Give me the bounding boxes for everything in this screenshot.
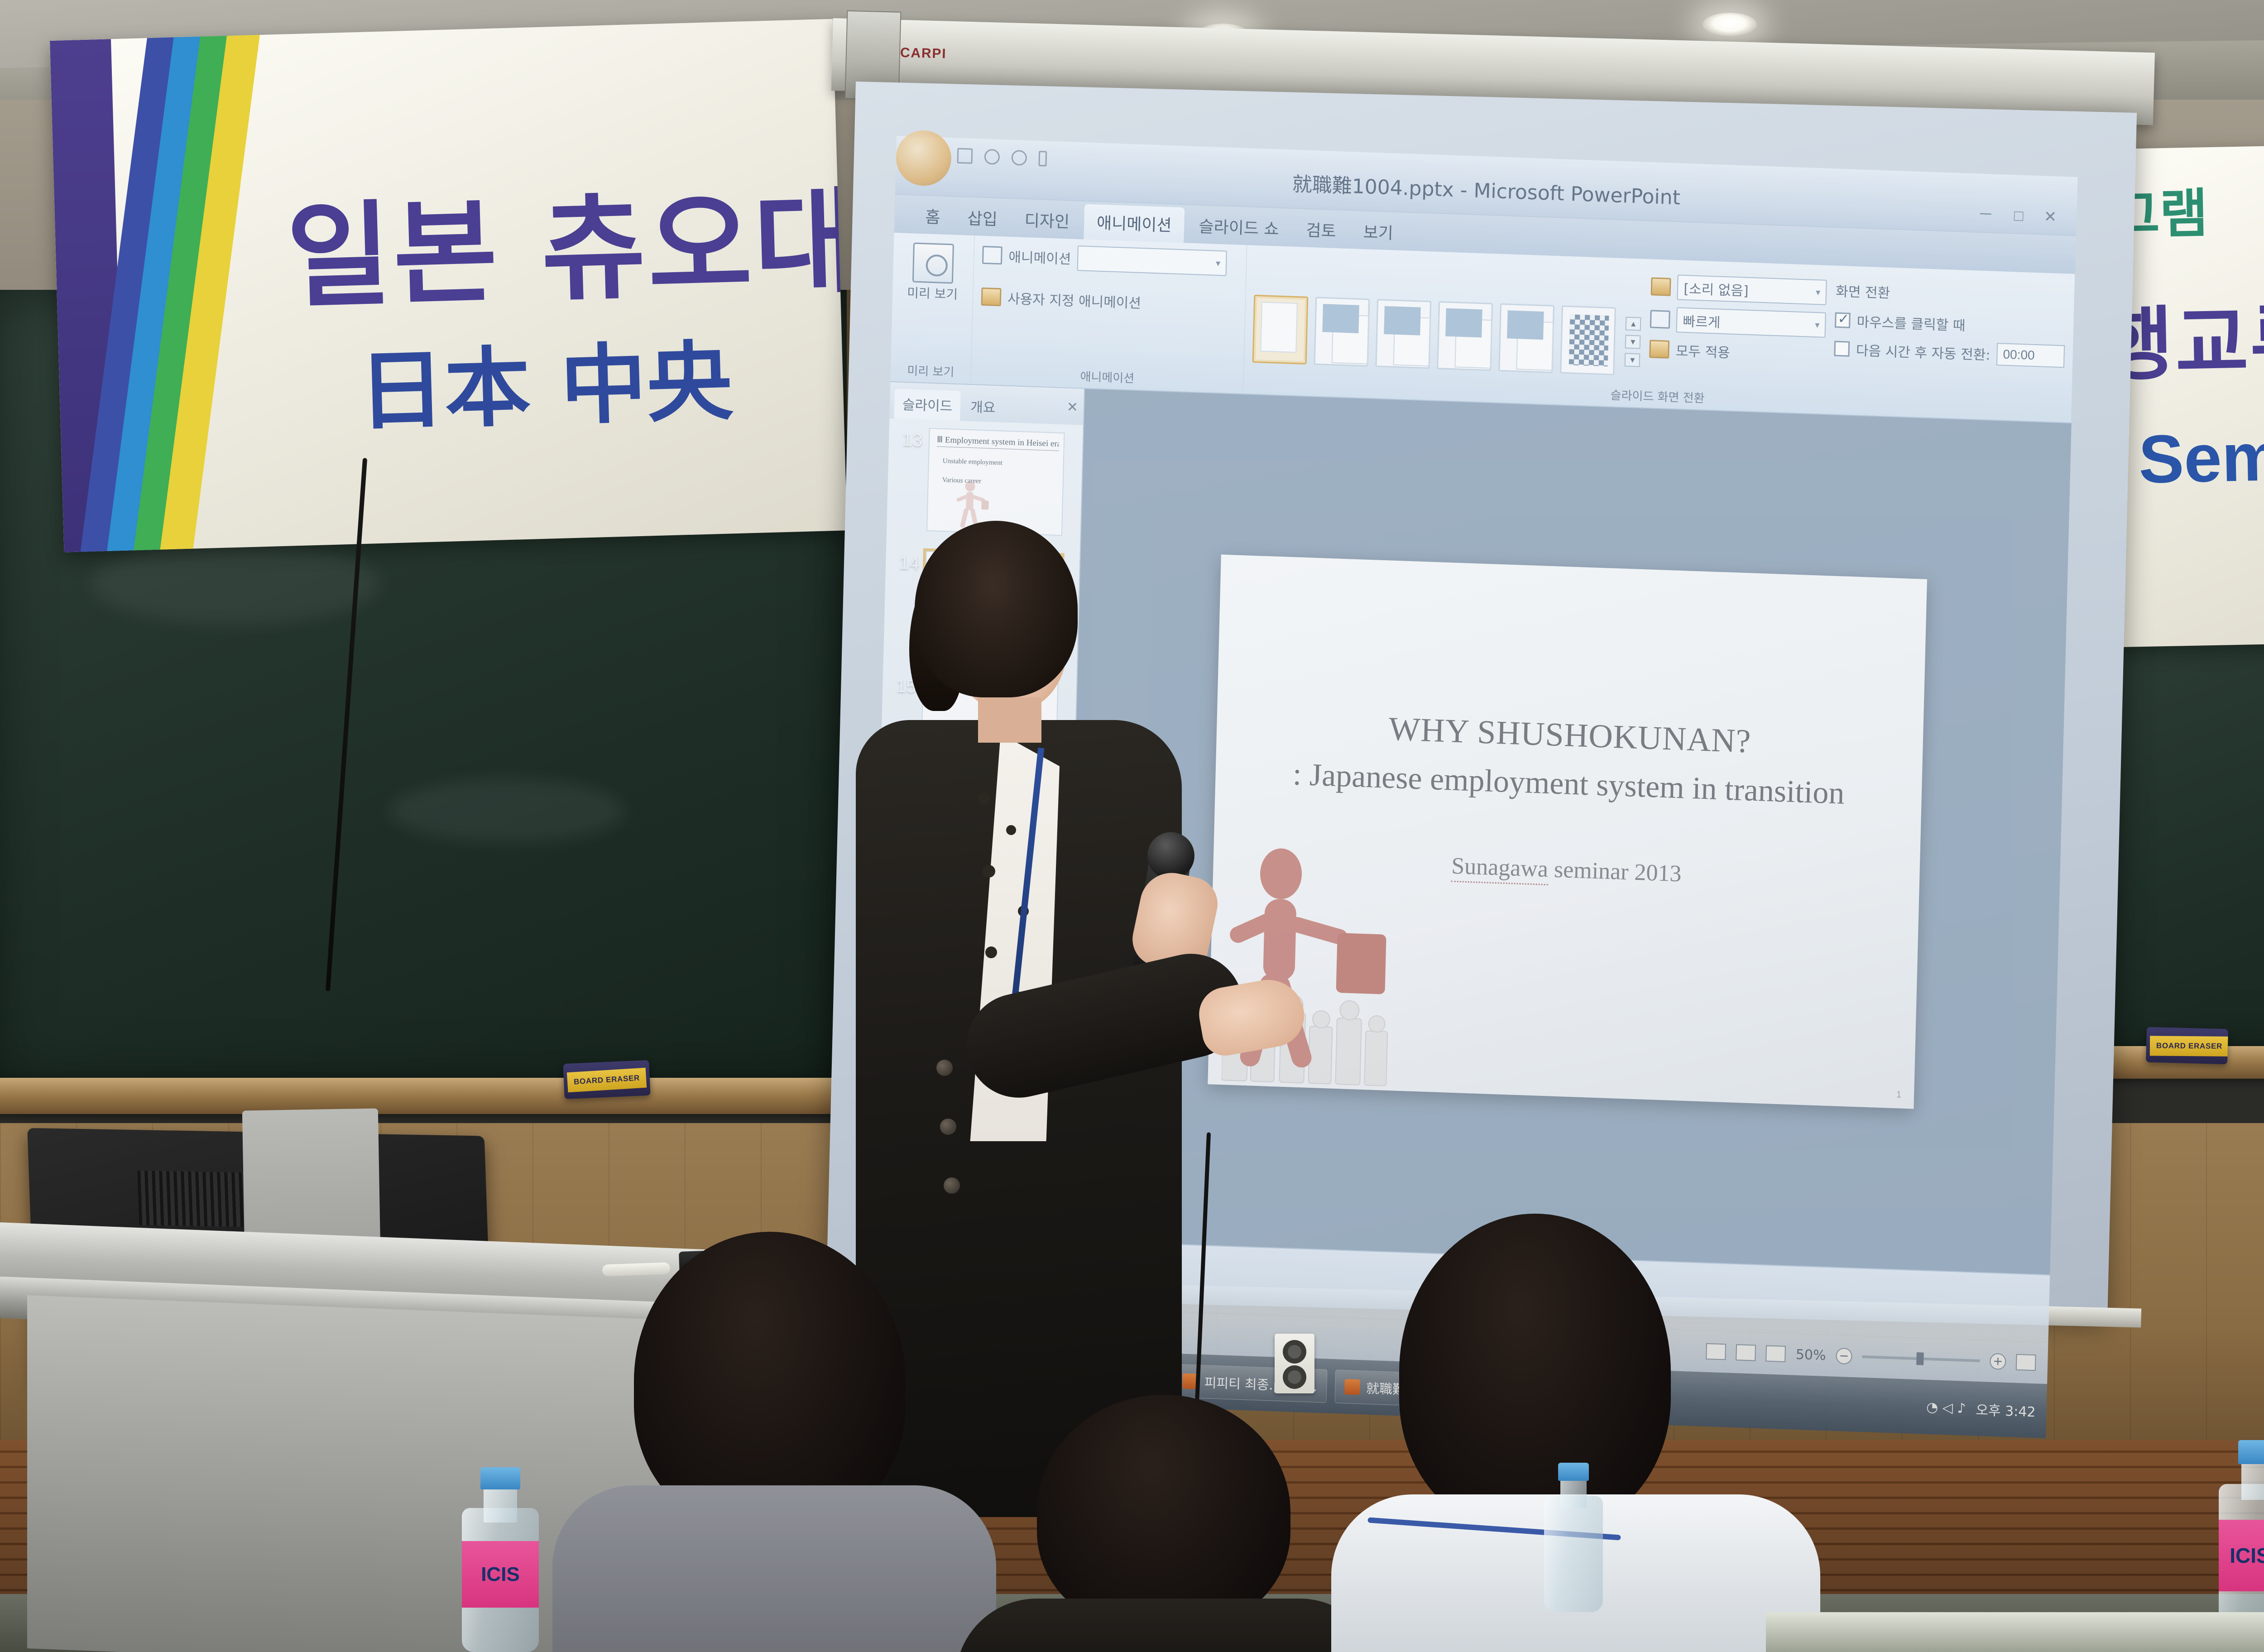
custom-animation-icon xyxy=(981,288,1002,307)
slide-thumbnail[interactable]: Ⅲ Employment system in Heisei era Unstab… xyxy=(926,428,1065,536)
slide-credit-rest: seminar 2013 xyxy=(1548,856,1682,887)
slide-page-number: 1 xyxy=(1896,1090,1902,1100)
apply-to-all-label: 모두 적용 xyxy=(1675,340,1730,361)
slide-number: 13 xyxy=(893,427,923,531)
zoom-slider[interactable] xyxy=(1862,1355,1980,1362)
board-eraser-label: BOARD ERASER xyxy=(567,1068,647,1093)
tab-review[interactable]: 검토 xyxy=(1293,211,1349,249)
chevron-down-icon: ▾ xyxy=(1815,319,1820,330)
bottle-label: ICIS xyxy=(462,1541,539,1608)
chevron-down-icon[interactable]: ▾ xyxy=(1625,335,1641,349)
banner-left-japanese: 日本 中央 xyxy=(357,312,734,447)
wall-power-outlet xyxy=(1275,1334,1314,1393)
slide-thumbnail-bullet: Unstable employment xyxy=(943,457,1002,467)
transition-sound-row[interactable]: [소리 없음] ▾ xyxy=(1651,274,1827,305)
zoom-in-button[interactable]: + xyxy=(1990,1353,2006,1370)
fit-to-window-button[interactable] xyxy=(2016,1354,2036,1371)
custom-animation-row[interactable]: 사용자 지정 애니메이션 xyxy=(981,287,1238,316)
audience-shoulders xyxy=(955,1599,1381,1652)
board-eraser-label: BOARD ERASER xyxy=(2150,1036,2228,1057)
screen-brand-label: CARPI xyxy=(900,45,947,62)
presenter-neck xyxy=(978,697,1041,743)
ribbon-group-preview: 미리 보기 미리 보기 xyxy=(890,233,974,384)
tab-animations[interactable]: 애니메이션 xyxy=(1084,204,1185,243)
window-controls[interactable]: － □ ✕ xyxy=(1978,202,2065,227)
zoom-slider-handle[interactable] xyxy=(1916,1352,1924,1365)
close-icon[interactable]: ✕ xyxy=(1066,399,1078,415)
tab-home[interactable]: 홈 xyxy=(912,198,954,235)
transition-thumb-none[interactable] xyxy=(1252,295,1309,365)
animate-label: 애니메이션 xyxy=(1008,246,1071,268)
transition-thumb-checker[interactable] xyxy=(1560,305,1616,375)
animate-row[interactable]: 애니메이션 ▾ xyxy=(982,242,1238,277)
apply-to-all-row[interactable]: 모두 적용 xyxy=(1649,339,1825,365)
advance-slide-heading: 화면 전환 xyxy=(1836,280,2066,308)
transition-thumb-4[interactable] xyxy=(1437,301,1493,371)
banner-left: 일본 츄오대 日本 中央 xyxy=(50,19,847,552)
ribbon-group-animations: 애니메이션 ▾ 사용자 지정 애니메이션 애니메이션 xyxy=(971,235,1247,394)
system-tray[interactable]: ◔ ◁ ♪ 오후 3:42 xyxy=(1926,1397,2047,1421)
chevron-up-icon[interactable]: ▴ xyxy=(1626,317,1641,331)
transition-thumb-2[interactable] xyxy=(1314,297,1370,367)
tab-view[interactable]: 보기 xyxy=(1350,213,1406,250)
businessman-crowd-graphic xyxy=(1221,831,1427,1091)
tab-outline[interactable]: 개요 xyxy=(962,391,1004,422)
lecture-hall-scene: 일본 츄오대 日本 中央 그램 행교류 세미나 Seminar CARPI 就職… xyxy=(0,0,2264,1652)
animate-icon xyxy=(982,246,1002,265)
speed-icon xyxy=(1650,310,1670,329)
gallery-scroll-arrows[interactable]: ▴ ▾ ▾ xyxy=(1625,317,1641,367)
water-bottle-left: ICIS xyxy=(462,1467,539,1652)
board-eraser-box: BOARD ERASER xyxy=(2146,1027,2228,1065)
transition-thumb-3[interactable] xyxy=(1376,299,1432,369)
bottle-cap xyxy=(2238,1440,2264,1464)
preview-button-label: 미리 보기 xyxy=(901,286,964,303)
preview-icon xyxy=(912,242,954,283)
bottle-label: ICIS 8.0 xyxy=(2219,1520,2264,1591)
list-item[interactable]: 13 Ⅲ Employment system in Heisei era Uns… xyxy=(887,418,1083,537)
auto-advance-row[interactable]: 다음 시간 후 자동 전환: 00:00 xyxy=(1834,337,2065,368)
tab-insert[interactable]: 삽입 xyxy=(955,200,1011,237)
animate-dropdown[interactable]: ▾ xyxy=(1077,245,1227,276)
custom-animation-label: 사용자 지정 애니메이션 xyxy=(1007,288,1142,312)
on-mouse-click-checkbox[interactable] xyxy=(1835,312,1851,328)
audience-head xyxy=(1037,1395,1290,1630)
bottle-cap xyxy=(480,1467,520,1489)
chevron-down-icon: ▾ xyxy=(1216,258,1221,269)
transition-speed-dropdown[interactable]: 빠르게 ▾ xyxy=(1676,307,1826,337)
bottle-brand: ICIS xyxy=(481,1563,520,1586)
gallery-expand-icon[interactable]: ▾ xyxy=(1625,353,1640,367)
bottle-brand: ICIS xyxy=(2230,1543,2264,1568)
audience-desk xyxy=(1766,1612,2264,1652)
banner-right-english: Seminar xyxy=(2138,415,2264,499)
transition-thumb-5[interactable] xyxy=(1499,303,1555,373)
tab-slides[interactable]: 슬라이드 xyxy=(894,389,961,421)
slide-thumbnail-title: Ⅲ Employment system in Heisei era xyxy=(937,434,1060,451)
preview-button[interactable]: 미리 보기 xyxy=(901,242,965,303)
auto-advance-time-value: 00:00 xyxy=(2003,347,2035,363)
slide-pane-tabs[interactable]: 슬라이드 개요 ✕ xyxy=(889,382,1084,425)
transition-speed-row[interactable]: 빠르게 ▾ xyxy=(1650,306,1826,338)
tab-slideshow[interactable]: 슬라이드 쇼 xyxy=(1186,207,1292,246)
on-mouse-click-label: 마우스를 클릭할 때 xyxy=(1856,311,1966,334)
ribbon-group-preview-label: 미리 보기 xyxy=(890,361,971,380)
tab-design[interactable]: 디자인 xyxy=(1012,202,1083,239)
current-slide[interactable]: WHY SHUSHOKUNAN? : Japanese employment s… xyxy=(1208,555,1927,1109)
taskbar-clock: 오후 3:42 xyxy=(1976,1399,2036,1421)
transition-sound-dropdown[interactable]: [소리 없음] ▾ xyxy=(1677,274,1827,305)
transition-speed-value: 빠르게 xyxy=(1683,310,1721,331)
bottle-cap xyxy=(1558,1463,1589,1481)
sound-icon xyxy=(1651,277,1671,296)
water-bottle-right: ICIS 8.0 xyxy=(2219,1440,2264,1639)
auto-advance-label: 다음 시간 후 자동 전환: xyxy=(1856,339,1991,364)
audience-head xyxy=(1399,1214,1671,1531)
banner-left-korean: 일본 츄오대 xyxy=(284,149,847,329)
board-eraser-box: BOARD ERASER xyxy=(563,1060,650,1099)
slide-credit-name: Sunagawa xyxy=(1451,853,1549,885)
auto-advance-time-spinner[interactable]: 00:00 xyxy=(1996,343,2065,368)
transition-sound-value: [소리 없음] xyxy=(1684,278,1749,300)
chevron-down-icon: ▾ xyxy=(1816,287,1821,298)
water-bottle-center xyxy=(1544,1463,1603,1612)
ribbon-group-transition: ▴ ▾ ▾ [소리 없음] ▾ xyxy=(1243,245,2075,423)
on-mouse-click-row[interactable]: 마우스를 클릭할 때 xyxy=(1835,310,2065,338)
auto-advance-checkbox[interactable] xyxy=(1834,341,1850,357)
presenter-hair xyxy=(915,521,1078,697)
ceiling-light xyxy=(1703,13,1757,36)
apply-all-icon xyxy=(1649,340,1669,359)
tray-icons[interactable]: ◔ ◁ ♪ xyxy=(1926,1399,1966,1416)
